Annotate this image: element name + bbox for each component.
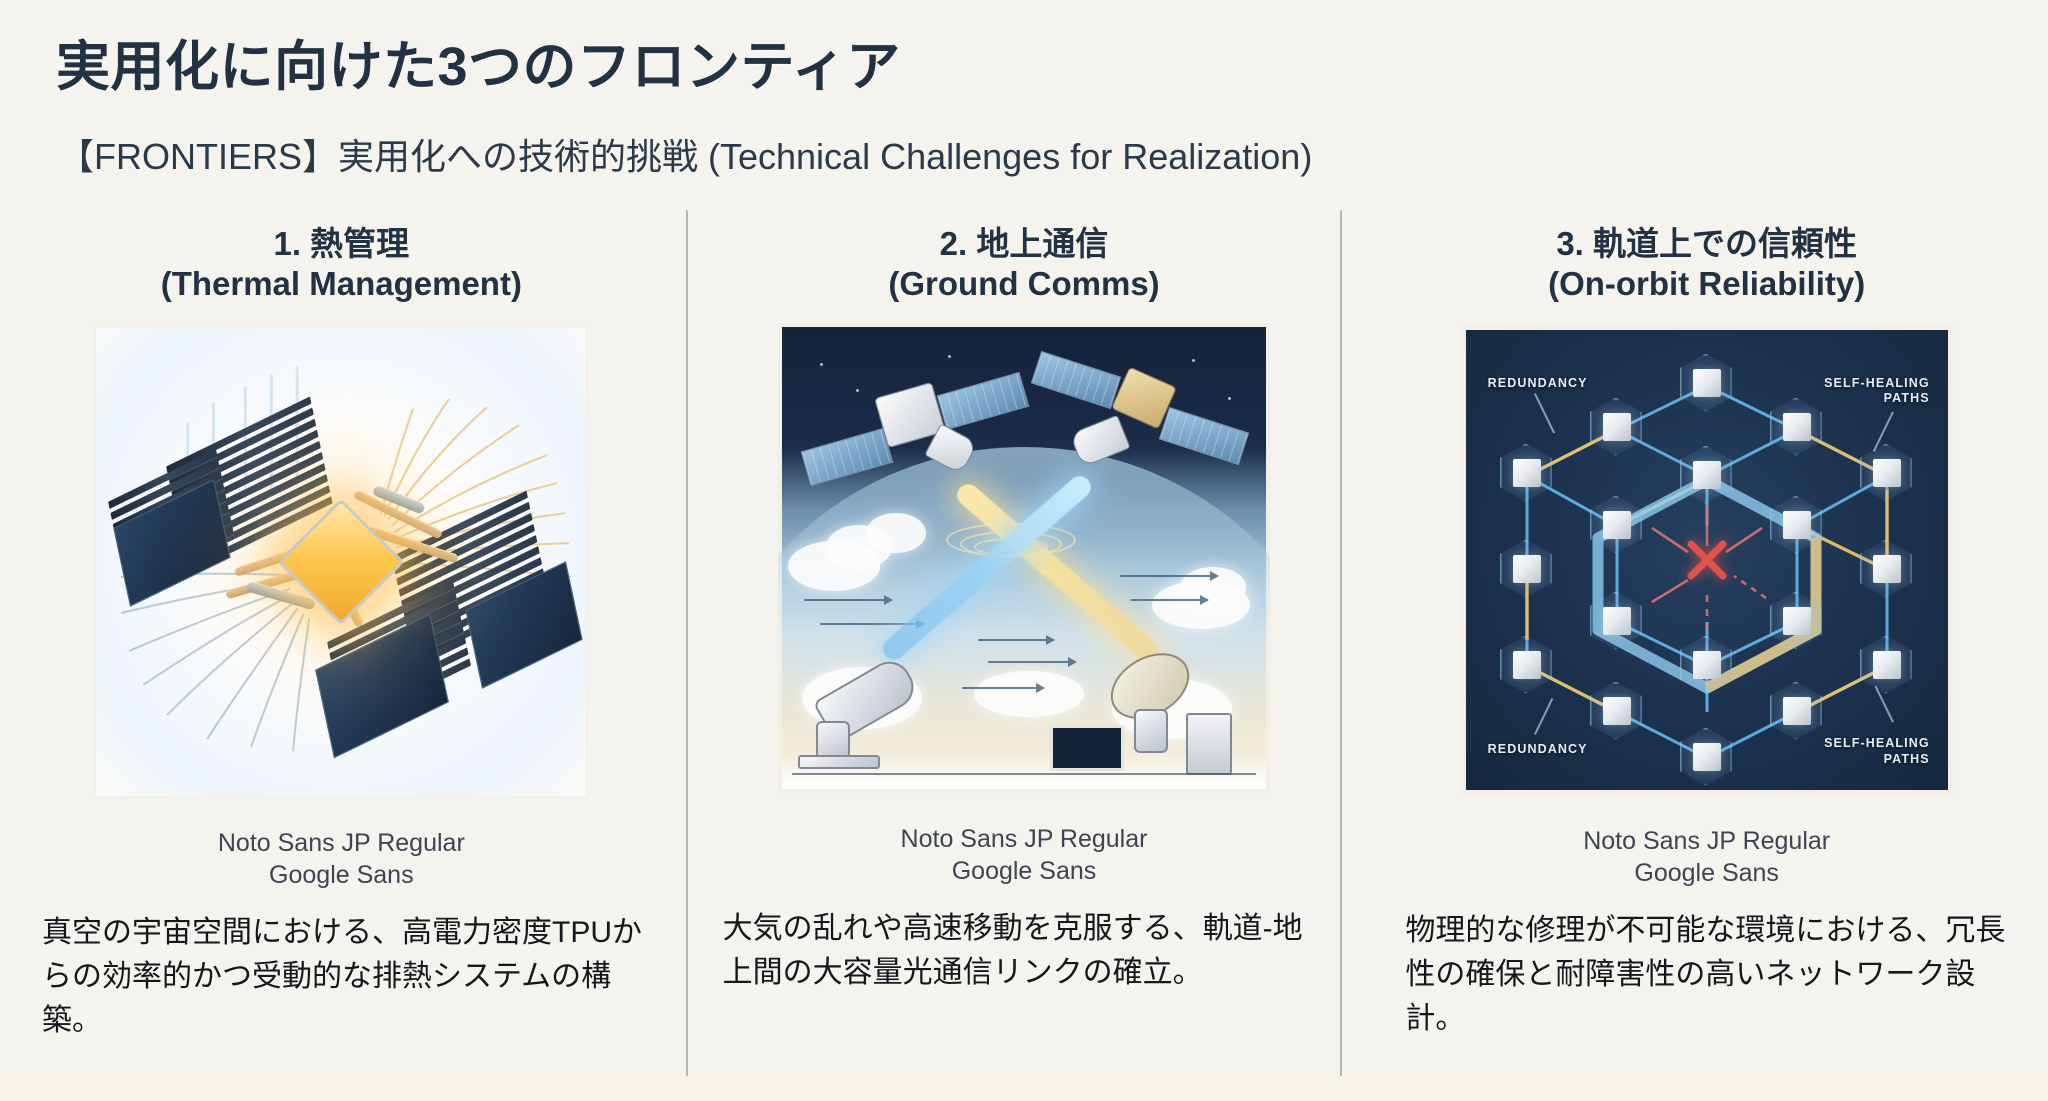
- network-label-self-healing-bottom: SELF-HEALING PATHS: [1824, 736, 1930, 767]
- node-cube-icon: [1783, 607, 1811, 635]
- bottom-band: [0, 1078, 2048, 1101]
- slide-root: 実用化に向けた3つのフロンティア 【FRONTIERS】実用化への技術的挑戦 (…: [0, 0, 2048, 1101]
- font-note-reliability: Noto Sans JP Regular Google Sans: [1583, 825, 1830, 889]
- solar-wing: [1159, 406, 1249, 464]
- node-cube-icon: [1513, 651, 1541, 679]
- network-label-redundancy-bottom: REDUNDANCY: [1488, 742, 1588, 758]
- network-label-redundancy-top: REDUNDANCY: [1488, 376, 1588, 392]
- node-cube-icon: [1693, 743, 1721, 771]
- node-failure-x-icon: [1681, 534, 1733, 586]
- node-cube-icon: [1873, 555, 1901, 583]
- description-ground-comms: 大気の乱れや高速移動を克服する、軌道-地上間の大容量光通信リンクの確立。: [717, 907, 1332, 996]
- node-cube-icon: [1873, 459, 1901, 487]
- telescope-base: [798, 755, 880, 769]
- frontier-column-reliability: 3. 軌道上での信頼性 (On-orbit Reliability): [1365, 210, 2048, 1078]
- frontier-column-ground-comms: 2. 地上通信 (Ground Comms): [683, 210, 1366, 1078]
- solar-wing: [1031, 350, 1121, 408]
- thermal-management-illustration: [95, 327, 587, 797]
- node-cube-icon: [1513, 555, 1541, 583]
- column-heading-ground-comms: 2. 地上通信 (Ground Comms): [888, 224, 1159, 305]
- ground-baseline: [792, 773, 1256, 775]
- node-cube-icon: [1693, 461, 1721, 489]
- node-cube-icon: [1603, 607, 1631, 635]
- node-cube-icon: [1603, 511, 1631, 539]
- font-note-thermal: Noto Sans JP Regular Google Sans: [218, 827, 465, 891]
- operations-monitor: [1050, 725, 1124, 771]
- solar-wing: [801, 427, 894, 485]
- cloud-icon: [866, 513, 926, 553]
- page-title: 実用化に向けた3つのフロンティア: [56, 22, 901, 101]
- node-cube-icon: [1603, 413, 1631, 441]
- column-heading-reliability: 3. 軌道上での信頼性 (On-orbit Reliability): [1548, 224, 1865, 305]
- ground-comms-illustration: [778, 323, 1270, 793]
- network-label-self-healing-top: SELF-HEALING PATHS: [1824, 376, 1930, 407]
- solar-wing: [937, 371, 1030, 429]
- node-cube-icon: [1783, 697, 1811, 725]
- mesh-network-scene: REDUNDANCY SELF-HEALING PATHS REDUNDANCY…: [1461, 325, 1953, 795]
- on-orbit-reliability-illustration: REDUNDANCY SELF-HEALING PATHS REDUNDANCY…: [1461, 325, 1953, 795]
- node-cube-icon: [1783, 511, 1811, 539]
- node-cube-icon: [1513, 459, 1541, 487]
- dish-mount: [1134, 709, 1168, 753]
- frontier-column-thermal: 1. 熱管理 (Thermal Management): [0, 210, 683, 1078]
- description-reliability: 物理的な修理が不可能な環境における、冗長性の確保と耐障害性の高いネットワーク設計…: [1399, 909, 2014, 1042]
- node-cube-icon: [1693, 651, 1721, 679]
- node-cube-icon: [1873, 651, 1901, 679]
- node-cube-icon: [1783, 413, 1811, 441]
- cloud-icon: [974, 671, 1084, 717]
- sky-scene: [778, 323, 1270, 793]
- server-tower: [1186, 713, 1232, 775]
- column-heading-thermal: 1. 熱管理 (Thermal Management): [161, 224, 522, 305]
- node-cube-icon: [1693, 369, 1721, 397]
- frontier-columns: 1. 熱管理 (Thermal Management): [0, 210, 2048, 1078]
- font-note-ground-comms: Noto Sans JP Regular Google Sans: [901, 823, 1148, 887]
- page-subtitle: 【FRONTIERS】実用化への技術的挑戦 (Technical Challen…: [58, 128, 1312, 180]
- node-cube-icon: [1603, 697, 1631, 725]
- description-thermal: 真空の宇宙空間における、高電力密度TPUからの効率的かつ受動的な排熱システムの構…: [34, 911, 649, 1044]
